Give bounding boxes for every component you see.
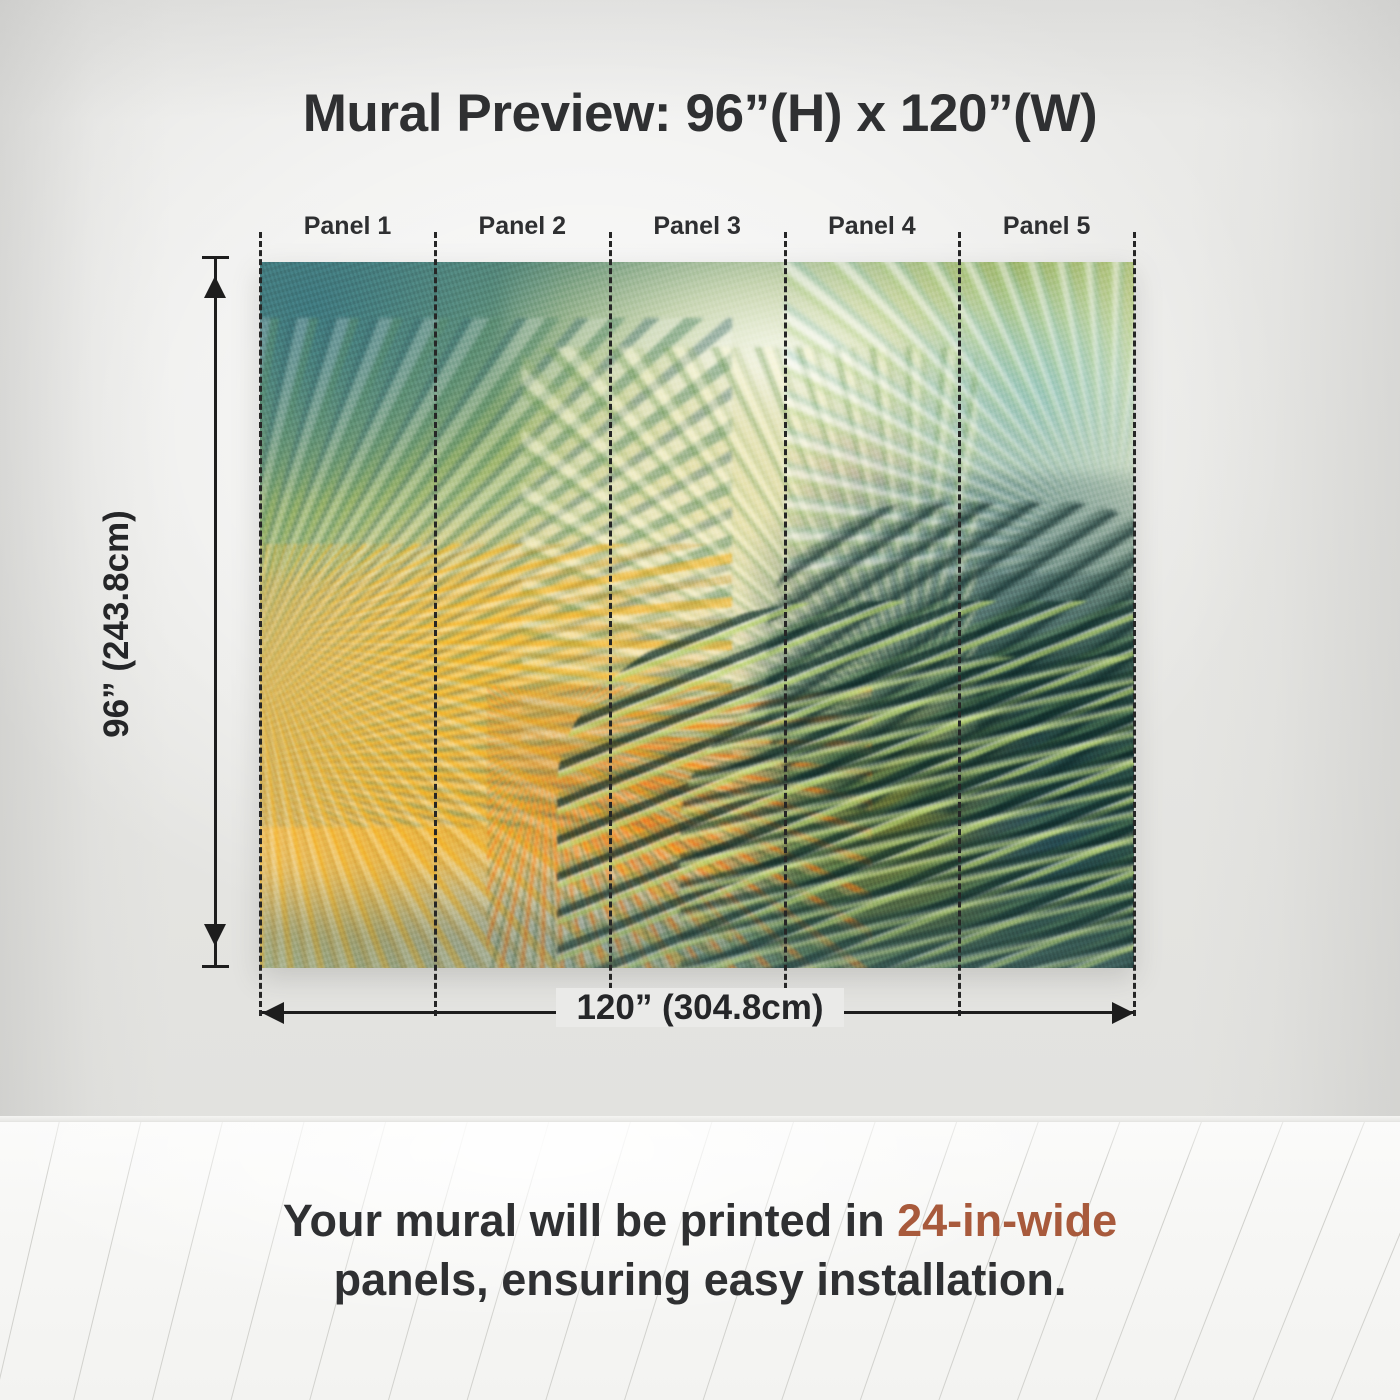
height-dimension-label: 96” (243.8cm) (97, 414, 137, 834)
panel-divider-3 (784, 232, 787, 1016)
page-title: Mural Preview: 96”(H) x 120”(W) (0, 83, 1400, 144)
panel-edge-right (1133, 232, 1136, 1016)
art-layer-grain (260, 262, 1134, 968)
caption-line-1: Your mural will be printed in 24-in-wide (0, 1192, 1400, 1251)
width-dimension-text: 120” (304.8cm) (556, 988, 843, 1027)
panel-divider-1 (434, 232, 437, 1016)
mural-artwork (260, 262, 1134, 968)
caption-line-1-prefix: Your mural will be printed in (283, 1195, 897, 1246)
wall-shadow-left (0, 0, 170, 1124)
panel-label-5: Panel 5 (959, 212, 1134, 241)
height-arrow-down-icon (204, 924, 226, 946)
wall-shadow-right (1190, 0, 1400, 1124)
height-arrow-up-icon (204, 276, 226, 298)
panel-label-3: Panel 3 (610, 212, 785, 241)
panel-label-4: Panel 4 (784, 212, 959, 241)
panel-divider-4 (958, 232, 961, 1016)
panel-edge-left (259, 232, 262, 1016)
caption-line-2: panels, ensuring easy installation. (0, 1251, 1400, 1310)
height-tick-top (202, 256, 229, 259)
footer-caption: Your mural will be printed in 24-in-wide… (0, 1192, 1400, 1309)
panel-label-1: Panel 1 (260, 212, 435, 241)
caption-accent-panel-width: 24-in-wide (897, 1195, 1117, 1246)
mural-preview[interactable] (260, 262, 1134, 968)
panel-divider-2 (609, 232, 612, 1016)
height-tick-bottom (202, 965, 229, 968)
width-dimension-label: 120” (304.8cm) (0, 988, 1400, 1028)
panel-label-2: Panel 2 (435, 212, 610, 241)
height-dimension-line (214, 256, 217, 968)
